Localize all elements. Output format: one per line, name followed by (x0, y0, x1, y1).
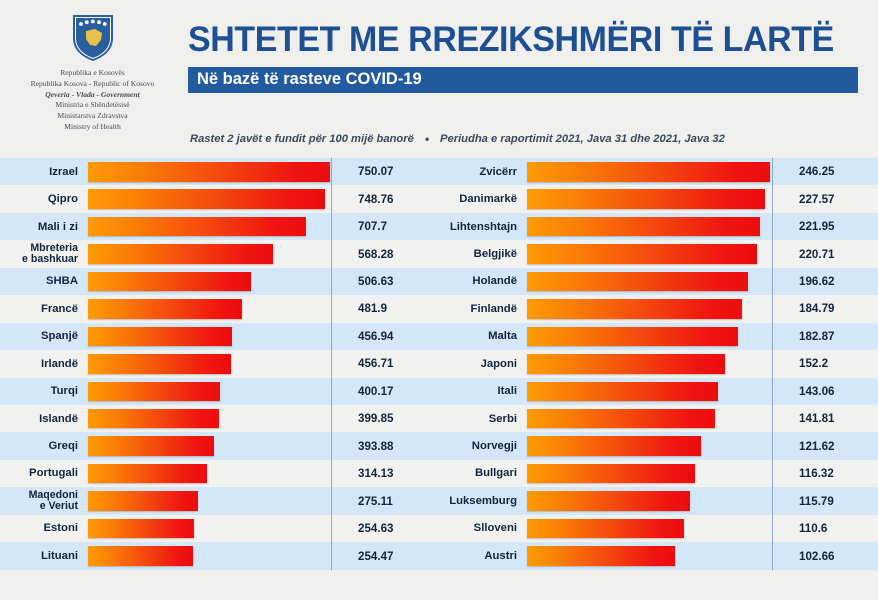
country-label: SHBA (0, 275, 88, 287)
caption-row: Rastet 2 javët e fundit për 100 mijë ban… (190, 133, 862, 145)
value-text: 506.63 (358, 268, 393, 295)
column-divider (772, 158, 773, 570)
value-bar (527, 409, 715, 429)
country-label: Zvicërr (439, 166, 527, 178)
value-text: 152.2 (799, 350, 828, 377)
country-label: Portugali (0, 467, 88, 479)
value-text: 254.47 (358, 542, 393, 569)
value-text: 184.79 (799, 295, 834, 322)
value-bar (88, 546, 193, 566)
country-label: Izrael (0, 166, 88, 178)
value-bar (527, 272, 748, 292)
country-label: Finlandë (439, 303, 527, 315)
value-bar (88, 409, 219, 429)
value-bar (88, 464, 207, 484)
country-label: Maqedonie Veriut (0, 490, 88, 513)
country-label: Spanjë (0, 330, 88, 342)
value-bar (88, 217, 306, 237)
country-label: Belgjikë (439, 248, 527, 260)
footer-strip (0, 570, 878, 600)
value-bar (88, 272, 251, 292)
country-label: Turqi (0, 385, 88, 397)
value-text: 121.62 (799, 433, 834, 460)
ministry-line-4: Ministria e Shëndetësisë (3, 100, 183, 111)
page-title: SHTETET ME RREZIKSHMËRI TË LARTË (188, 22, 840, 59)
country-label: Japoni (439, 358, 527, 370)
value-text: 399.85 (358, 405, 393, 432)
value-text: 102.66 (799, 542, 834, 569)
value-bar (88, 436, 214, 456)
value-text: 246.25 (799, 158, 834, 185)
country-label: Lituani (0, 550, 88, 562)
country-label: Itali (439, 385, 527, 397)
value-text: 227.57 (799, 185, 834, 212)
ministry-line-5: Ministarstva Zdravstva (3, 111, 183, 122)
value-bar (527, 382, 718, 402)
value-text: 568.28 (358, 240, 393, 267)
country-label: Estoni (0, 522, 88, 534)
ministry-line-6: Ministry of Health (3, 122, 183, 133)
country-label: Norvegji (439, 440, 527, 452)
value-text: 456.94 (358, 323, 393, 350)
kosovo-coat-of-arms-icon (71, 12, 115, 62)
country-label: Danimarkë (439, 193, 527, 205)
value-text: 748.76 (358, 185, 393, 212)
ministry-lines: Republika e Kosovës Republika Kosova - R… (3, 68, 183, 133)
country-label: Malta (439, 330, 527, 342)
value-text: 220.71 (799, 240, 834, 267)
emblem-block: Republika e Kosovës Republika Kosova - R… (0, 12, 185, 133)
bar-chart: IzraelQiproMali i ziMbreteriae bashkuarS… (0, 158, 878, 570)
chart-column-right: ZvicërrDanimarkëLihtenshtajnBelgjikëHola… (439, 158, 878, 570)
value-bar (527, 519, 684, 539)
title-block: SHTETET ME RREZIKSHMËRI TË LARTË Në bazë… (188, 22, 860, 93)
value-bar (88, 189, 325, 209)
infographic-page: Republika e Kosovës Republika Kosova - R… (0, 0, 878, 600)
country-label: Qipro (0, 193, 88, 205)
country-label: Mbreteriae bashkuar (0, 243, 88, 266)
country-label: Bullgari (439, 467, 527, 479)
subtitle-text: Në bazë të rasteve COVID-19 (197, 70, 422, 89)
value-text: 481.9 (358, 295, 387, 322)
country-label: Holandë (439, 275, 527, 287)
value-text: 393.88 (358, 433, 393, 460)
value-text: 750.07 (358, 158, 393, 185)
header: Republika e Kosovës Republika Kosova - R… (0, 0, 878, 155)
country-label: Serbi (439, 413, 527, 425)
caption-left: Rastet 2 javët e fundit për 100 mijë ban… (190, 133, 414, 145)
value-text: 115.79 (799, 487, 834, 514)
value-bar (88, 382, 220, 402)
country-label: Irlandë (0, 358, 88, 370)
value-text: 143.06 (799, 378, 834, 405)
value-bar (527, 162, 770, 182)
value-text: 275.11 (358, 487, 393, 514)
value-text: 141.81 (799, 405, 834, 432)
value-bar (527, 189, 765, 209)
country-label: Austri (439, 550, 527, 562)
ministry-line-3: Qeveria - Vlada - Government (3, 90, 183, 101)
value-bar (88, 162, 330, 182)
value-bar (527, 244, 757, 264)
value-bar (527, 436, 701, 456)
value-bar (88, 519, 194, 539)
value-bar (527, 354, 725, 374)
value-text: 707.7 (358, 213, 387, 240)
country-label: Mali i zi (0, 221, 88, 233)
value-text: 196.62 (799, 268, 834, 295)
column-divider (331, 158, 332, 570)
value-bar (527, 491, 690, 511)
country-label: Luksemburg (439, 495, 527, 507)
country-label: Islandë (0, 413, 88, 425)
value-bar (88, 491, 198, 511)
value-text: 182.87 (799, 323, 834, 350)
value-text: 456.71 (358, 350, 393, 377)
value-text: 116.32 (799, 460, 834, 487)
subtitle-band: Në bazë të rasteve COVID-19 (188, 67, 858, 93)
value-text: 254.63 (358, 515, 393, 542)
country-label: Francë (0, 303, 88, 315)
value-text: 314.13 (358, 460, 393, 487)
ministry-line-1: Republika e Kosovës (3, 68, 183, 79)
country-label: Slloveni (439, 522, 527, 534)
country-label: Greqi (0, 440, 88, 452)
value-bar (527, 299, 742, 319)
caption-right: Periudha e raportimit 2021, Java 31 dhe … (440, 133, 725, 145)
value-bar (527, 217, 760, 237)
value-bar (88, 327, 232, 347)
ministry-line-2: Republika Kosova - Republic of Kosovo (3, 79, 183, 90)
value-bar (527, 464, 695, 484)
value-text: 110.6 (799, 515, 827, 542)
value-text: 221.95 (799, 213, 834, 240)
bullet-icon: • (425, 133, 429, 145)
value-bar (527, 327, 738, 347)
value-bar (527, 546, 675, 566)
country-label: Lihtenshtajn (439, 221, 527, 233)
value-bar (88, 354, 231, 374)
value-text: 400.17 (358, 378, 393, 405)
value-bar (88, 244, 273, 264)
chart-column-left: IzraelQiproMali i ziMbreteriae bashkuarS… (0, 158, 439, 570)
value-bar (88, 299, 242, 319)
